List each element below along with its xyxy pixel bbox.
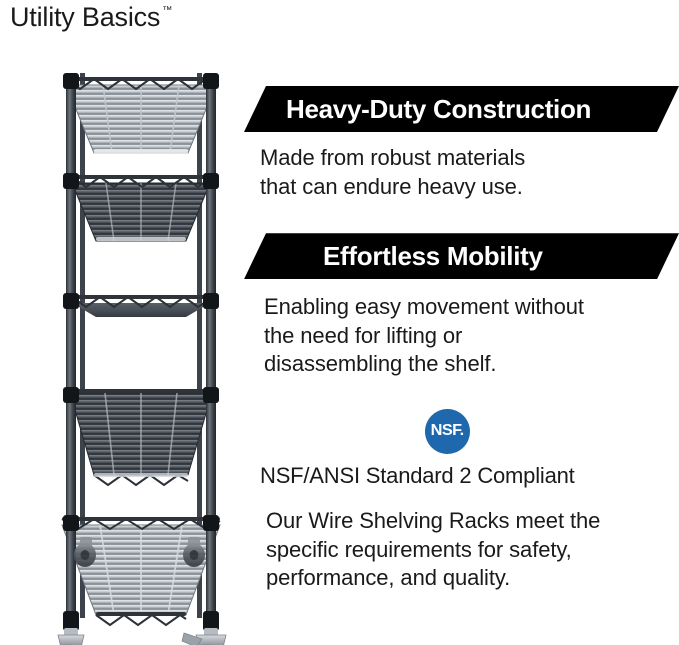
shelf-2: [72, 175, 210, 241]
shelf-4: [70, 389, 212, 485]
banner-label-effortless-mobility: Effortless Mobility: [323, 241, 543, 272]
banner-label-heavy-duty-construction: Heavy-Duty Construction: [286, 94, 591, 125]
nsf-compliance-line: NSF/ANSI Standard 2 Compliant: [260, 463, 575, 489]
feature-banner-heavy-duty-construction: Heavy-Duty Construction: [244, 86, 679, 132]
product-image-wire-shelving-rack: [36, 55, 246, 645]
caster-front-right: [182, 628, 226, 645]
feature-content-column: Heavy-Duty Construction Made from robust…: [244, 86, 679, 645]
brand-logo: Utility Basics ™: [10, 4, 172, 31]
shelf-5: [62, 517, 220, 625]
caster-front-left: [49, 628, 85, 645]
section-spacer: [244, 201, 679, 233]
brand-name: Utility Basics: [10, 4, 160, 31]
feature-paragraph-heavy-duty-construction: Made from robust materials that can endu…: [260, 144, 679, 201]
shelf-1: [66, 77, 216, 154]
certification-block: NSF. NSF/ANSI Standard 2 Compliant Our W…: [244, 409, 679, 593]
trademark-symbol: ™: [162, 6, 172, 16]
feature-banner-effortless-mobility: Effortless Mobility: [244, 233, 679, 279]
post-left: [66, 75, 76, 630]
certification-detail-paragraph: Our Wire Shelving Racks meet the specifi…: [266, 507, 600, 593]
shelf-3: [72, 295, 210, 317]
feature-paragraph-effortless-mobility: Enabling easy movement without the need …: [264, 293, 679, 379]
nsf-certification-badge-icon: NSF.: [425, 409, 470, 454]
nsf-badge-label: NSF.: [431, 422, 464, 440]
post-right: [206, 75, 216, 630]
